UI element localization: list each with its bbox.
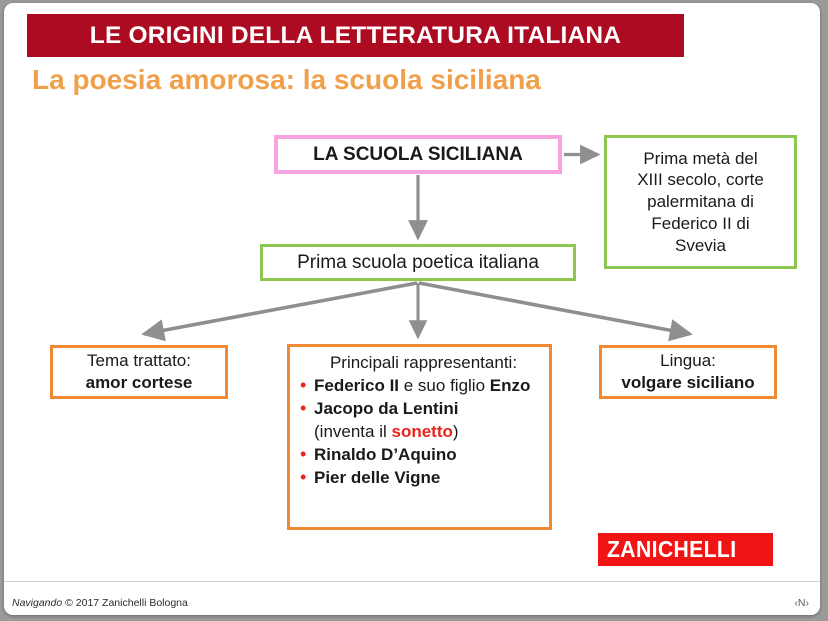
rappresentante-3-name: Rinaldo D’Aquino <box>314 445 457 464</box>
node-prima-scuola-poetica-label: Prima scuola poetica italiana <box>297 252 539 274</box>
node-lingua: Lingua: volgare siciliano <box>599 345 777 399</box>
node-periodo: Prima metà del XIII secolo, corte palerm… <box>604 135 797 269</box>
rappresentanti-list: Federico II e suo figlio Enzo Jacopo da … <box>298 374 541 490</box>
node-periodo-line-5: Svevia <box>675 235 726 257</box>
rappresentante-2-note-close: ) <box>453 422 459 441</box>
zanichelli-logo-text: ZANICHELLI <box>607 536 736 563</box>
rappresentante-1-name-2: Enzo <box>490 376 531 395</box>
footer-divider <box>4 581 820 582</box>
node-principali-rappresentanti-title: Principali rappresentanti: <box>298 353 545 373</box>
list-item: Federico II e suo figlio Enzo <box>298 374 541 397</box>
rappresentante-1-text: e suo figlio <box>399 376 490 395</box>
node-scuola-siciliana-label: LA SCUOLA SICILIANA <box>313 144 523 166</box>
rappresentante-2-name: Jacopo da Lentini <box>314 399 459 418</box>
node-lingua-line-1: Lingua: <box>660 350 716 372</box>
rappresentante-2-highlight: sonetto <box>391 422 452 441</box>
arrow-prima-scuola-to-tema <box>144 283 417 334</box>
node-tema-trattato-line-2: amor cortese <box>86 372 193 394</box>
node-periodo-line-4: Federico II di <box>651 213 749 235</box>
footer-copyright: Navigando © 2017 Zanichelli Bologna <box>12 597 188 609</box>
list-item: Jacopo da Lentini (inventa il sonetto) <box>298 397 541 443</box>
node-principali-rappresentanti: Principali rappresentanti: Federico II e… <box>287 344 552 530</box>
zanichelli-logo: ZANICHELLI <box>598 533 773 566</box>
node-tema-trattato: Tema trattato: amor cortese <box>50 345 228 399</box>
footer-product-name: Navigando <box>12 597 62 609</box>
rappresentante-2-note-open: (inventa il <box>314 422 391 441</box>
node-periodo-line-1: Prima metà del <box>643 148 757 170</box>
node-periodo-line-3: palermitana di <box>647 191 754 213</box>
node-prima-scuola-poetica: Prima scuola poetica italiana <box>260 244 576 281</box>
header-banner: LE ORIGINI DELLA LETTERATURA ITALIANA <box>27 14 684 57</box>
arrow-prima-scuola-to-lingua <box>419 283 690 334</box>
slide-canvas: LE ORIGINI DELLA LETTERATURA ITALIANA La… <box>4 3 820 615</box>
list-item: Pier delle Vigne <box>298 466 541 489</box>
slide-number: ‹N› <box>794 597 809 609</box>
node-periodo-line-2: XIII secolo, corte <box>637 169 764 191</box>
footer-copyright-rest: © 2017 Zanichelli Bologna <box>62 597 188 609</box>
page-title: La poesia amorosa: la scuola siciliana <box>32 64 732 96</box>
rappresentante-1-name: Federico II <box>314 376 399 395</box>
node-tema-trattato-line-1: Tema trattato: <box>87 350 191 372</box>
node-scuola-siciliana: LA SCUOLA SICILIANA <box>274 135 562 174</box>
rappresentante-4-name: Pier delle Vigne <box>314 468 440 487</box>
header-banner-title: LE ORIGINI DELLA LETTERATURA ITALIANA <box>90 22 621 50</box>
node-lingua-line-2: volgare siciliano <box>621 372 754 394</box>
list-item: Rinaldo D’Aquino <box>298 443 541 466</box>
